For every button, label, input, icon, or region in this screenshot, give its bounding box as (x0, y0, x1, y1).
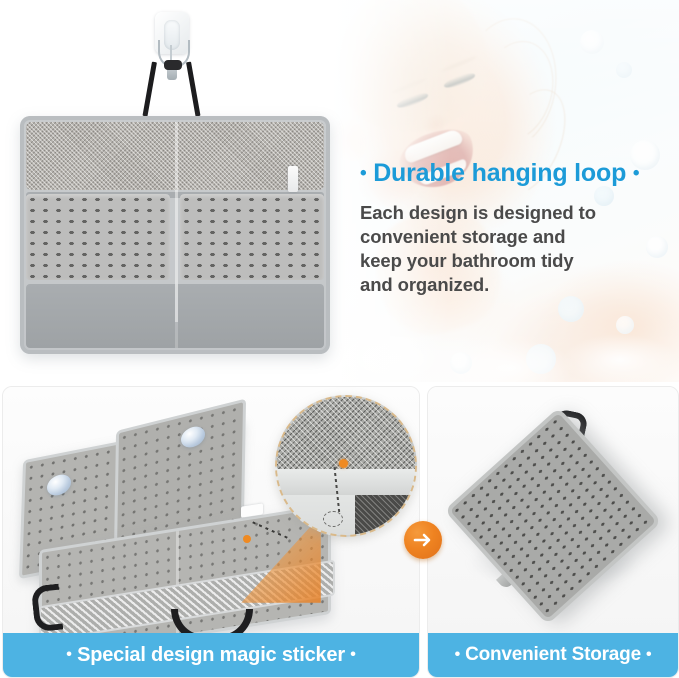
organizer-hanging (20, 116, 330, 354)
detail-marker-dot (243, 535, 251, 543)
body-line-1: Each design is designed to (360, 201, 670, 225)
banner-text-convenient-storage: Convenient Storage (465, 644, 641, 666)
body-line-2: convenient storage and (360, 225, 670, 249)
hanging-product-photo (0, 0, 345, 382)
magnified-velcro-strip (277, 469, 415, 495)
organizer-trim (20, 116, 330, 354)
magnifier-marker-dot (339, 459, 348, 468)
product-infographic: • Durable hanging loop • Each design is … (0, 0, 679, 678)
body-line-4: and organized. (360, 273, 670, 297)
body-copy: Each design is designed to convenient st… (360, 201, 670, 297)
bottom-left-panel: • Special design magic sticker • (2, 386, 420, 678)
bottom-right-banner: • Convenient Storage • (428, 633, 678, 677)
body-line-3: keep your bathroom tidy (360, 249, 670, 273)
banner-bullet-right: • (350, 646, 355, 664)
magnified-mesh (277, 397, 415, 469)
organizer-opened-photo (3, 387, 419, 635)
headline-bullet-left: • (360, 163, 366, 184)
side-handle (31, 584, 64, 633)
hanging-strap-left (142, 62, 156, 117)
headline: • Durable hanging loop • (360, 160, 670, 188)
banner-bullet-right: • (646, 646, 651, 664)
banner-bullet-left: • (66, 646, 71, 664)
headline-text: Durable hanging loop (373, 159, 626, 187)
hanging-strap-right (186, 62, 200, 117)
banner-text-special-design: Special design magic sticker (77, 644, 345, 667)
carry-handle (171, 609, 253, 635)
headline-bullet-right: • (633, 163, 639, 184)
orange-right-arrow-icon (404, 521, 442, 559)
strap-knot (164, 60, 182, 70)
magnifier-callout (275, 395, 417, 537)
magnifier-inner-marker (323, 511, 343, 527)
care-label-tag (288, 166, 298, 192)
organizer-folded-photo (428, 387, 678, 635)
banner-bullet-left: • (455, 646, 460, 664)
top-section: • Durable hanging loop • Each design is … (0, 0, 679, 382)
top-copy-block: • Durable hanging loop • Each design is … (360, 160, 670, 297)
organizer-folded (444, 407, 661, 624)
bottom-right-panel: • Convenient Storage • (427, 386, 679, 678)
bottom-left-banner: • Special design magic sticker • (3, 633, 419, 677)
